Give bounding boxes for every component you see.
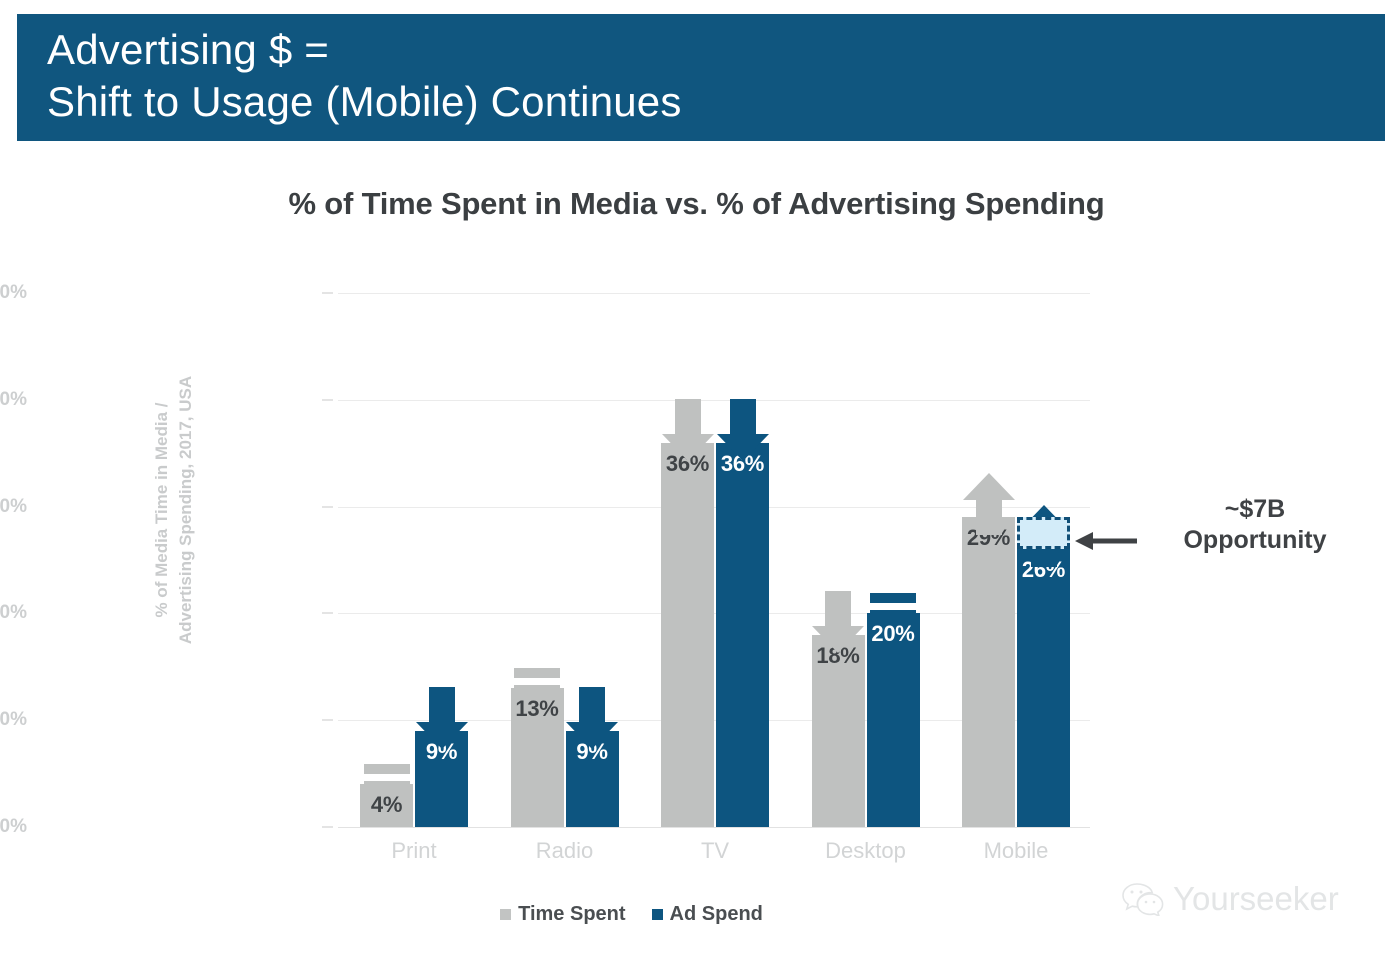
- bar-chart: % of Media Time in Media / Advertising S…: [0, 0, 1399, 960]
- y-axis-tick-mark: [322, 719, 333, 721]
- down-arrow-icon: [662, 399, 714, 461]
- bar-tv-time-spent: 36%: [661, 443, 714, 827]
- watermark: Yourseeker: [1122, 880, 1339, 918]
- bar-value-label: 20%: [867, 621, 920, 647]
- plot-area: 0%10%20%30%40%50%4%9%Print13%9%Radio36%3…: [338, 293, 1090, 827]
- y-axis-tick-label: 20%: [0, 602, 27, 624]
- down-arrow-icon: [717, 399, 769, 461]
- down-arrow-icon: [416, 687, 468, 749]
- legend-swatch-time-spent: [500, 909, 511, 920]
- x-axis-label-print: Print: [360, 838, 468, 864]
- opportunity-box: [1017, 517, 1070, 549]
- y-axis-tick-label: 10%: [0, 709, 27, 731]
- y-axis-tick-label: 50%: [0, 282, 27, 304]
- y-axis-tick-mark: [322, 399, 333, 401]
- x-axis-label-mobile: Mobile: [962, 838, 1070, 864]
- x-axis-label-tv: TV: [661, 838, 769, 864]
- gridline: [338, 293, 1090, 294]
- legend-item-ad-spend: Ad Spend: [652, 903, 763, 926]
- y-axis-label: % of Media Time in Media / Advertising S…: [150, 330, 206, 690]
- x-axis-label-desktop: Desktop: [812, 838, 920, 864]
- bar-radio-time-spent: 13%: [511, 688, 564, 827]
- y-axis-tick-mark: [322, 826, 333, 828]
- y-axis-tick-mark: [322, 292, 333, 294]
- bar-desktop-ad-spend: 20%: [867, 613, 920, 827]
- bar-value-label: 4%: [360, 792, 413, 818]
- wechat-icon: [1122, 882, 1164, 916]
- bar-desktop-time-spent: 18%: [812, 635, 865, 827]
- down-arrow-icon: [812, 591, 864, 653]
- legend-label-time-spent: Time Spent: [518, 903, 625, 926]
- y-axis-tick-mark: [322, 612, 333, 614]
- gridline: [338, 827, 1090, 828]
- bar-value-label: 13%: [511, 696, 564, 722]
- y-axis-tick-label: 30%: [0, 496, 27, 518]
- down-arrow-icon: [566, 687, 618, 749]
- x-axis-label-radio: Radio: [511, 838, 619, 864]
- equals-icon: [870, 591, 916, 623]
- y-axis-tick-mark: [322, 506, 333, 508]
- legend-item-time-spent: Time Spent: [500, 903, 625, 926]
- equals-icon: [514, 666, 560, 698]
- y-axis-tick-label: 40%: [0, 389, 27, 411]
- gridline: [338, 400, 1090, 401]
- legend-swatch-ad-spend: [652, 909, 663, 920]
- opportunity-annotation: ~$7B Opportunity: [1140, 494, 1370, 556]
- legend-label-ad-spend: Ad Spend: [670, 903, 763, 926]
- watermark-label: Yourseeker: [1173, 880, 1339, 918]
- bar-tv-ad-spend: 36%: [716, 443, 769, 827]
- y-axis-tick-label: 0%: [0, 816, 27, 838]
- up-arrow-icon: [963, 473, 1015, 535]
- bar-mobile-time-spent: 29%: [962, 517, 1015, 827]
- bar-mobile-ad-spend: 26%: [1017, 549, 1070, 827]
- opportunity-arrow-icon: [1075, 531, 1137, 556]
- equals-icon: [364, 762, 410, 794]
